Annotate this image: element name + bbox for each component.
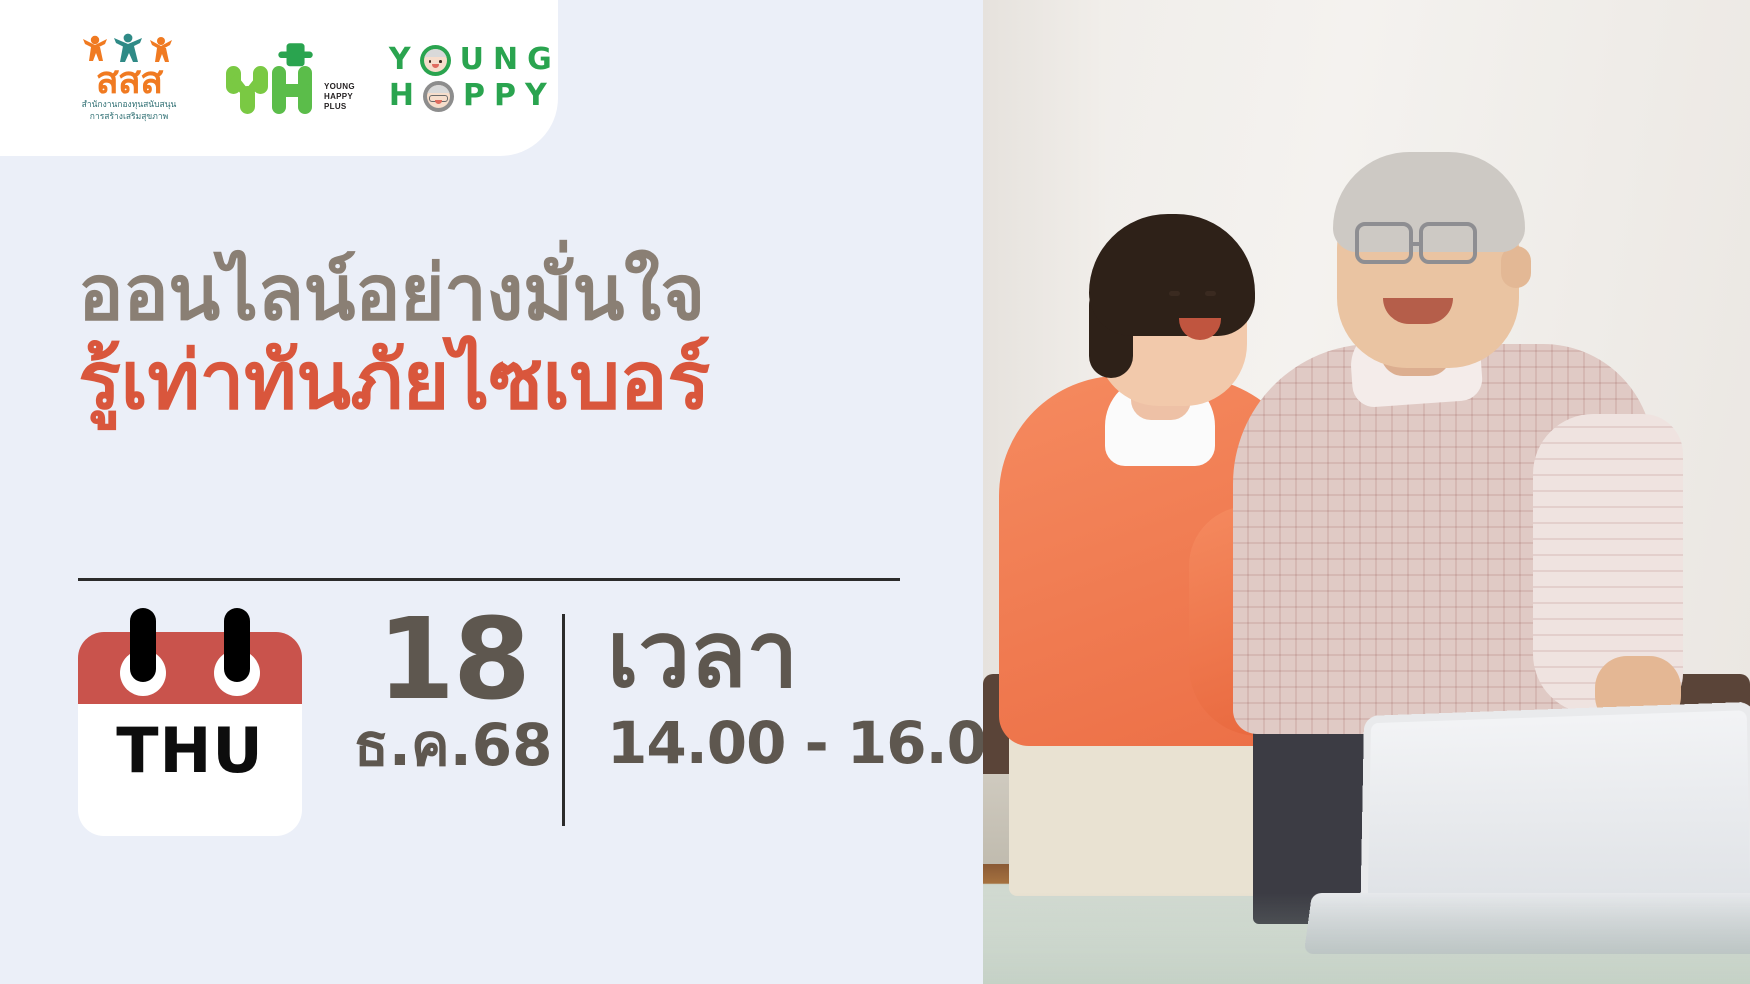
yh-plus-caption-line3: PLUS [324,102,355,112]
thaihealth-wordmark: สสส [96,63,163,98]
photo-floor-shadow [983,892,1750,984]
event-time-value: 14.00 - 16.00 [607,712,1025,776]
yh-letter-y1: Y [389,45,411,75]
vertical-divider [562,614,565,826]
thaihealth-logo: สสส สำนักงานกองทุนสนับสนุน การสร้างเสริม… [68,33,190,123]
young-happy-logo: Y U N G H P P Y [389,45,552,112]
promo-banner: สสส สำนักงานกองทุนสนับสนุน การสร้างเสริม… [0,0,1750,984]
calendar-icon: THU [78,604,302,836]
yh-plus-mark-icon [224,40,320,116]
event-date-number: 18 [377,608,529,713]
yh-plus-caption-line1: YOUNG [324,82,355,92]
calendar-header [78,632,302,704]
event-time: เวลา 14.00 - 16.00 [607,604,1025,776]
thaihealth-people-icon [73,33,185,63]
thaihealth-subtitle-line2: การสร้างเสริมสุขภาพ [90,112,168,123]
yh-plus-caption: YOUNG HAPPY PLUS [324,82,355,116]
headline: ออนไลน์อย่างมั่นใจ รู้เท่าทันภัยไซเบอร์ [78,252,938,424]
young-happy-line-happy: H P P Y [389,81,552,112]
yh-letter-p2: P [494,81,516,111]
event-date: 18 ธ.ค.68 [348,604,558,776]
yh-letter-h: H [389,81,414,111]
calendar-weekday: THU [78,720,302,782]
event-time-label: เวลา [607,608,798,702]
elderly-couple-with-laptop-photo [983,0,1750,984]
elder-face-green-icon [420,45,451,76]
yh-letter-u: U [460,45,484,75]
calendar-peg-left [130,608,156,682]
event-info: THU 18 ธ.ค.68 เวลา 14.00 - 16.00 [78,604,1025,836]
elder-face-grey-icon [423,81,454,112]
headline-line1: ออนไลน์อย่างมั่นใจ [78,252,938,334]
yh-letter-p1: P [463,81,485,111]
yh-letter-n: N [493,45,518,75]
thaihealth-subtitle-line1: สำนักงานกองทุนสนับสนุน [82,100,177,111]
young-happy-line-young: Y U N G [389,45,552,76]
headline-line2: รู้เท่าทันภัยไซเบอร์ [78,338,938,424]
event-date-month: ธ.ค.68 [354,715,553,776]
horizontal-divider [78,578,900,581]
calendar-peg-right [224,608,250,682]
yh-letter-g: G [527,45,552,75]
yh-letter-y2: Y [525,81,547,111]
yh-plus-caption-line2: HAPPY [324,92,355,102]
calendar-body: THU [78,632,302,836]
young-happy-plus-logo: YOUNG HAPPY PLUS [224,40,355,116]
logo-bar: สสส สำนักงานกองทุนสนับสนุน การสร้างเสริม… [0,0,558,156]
